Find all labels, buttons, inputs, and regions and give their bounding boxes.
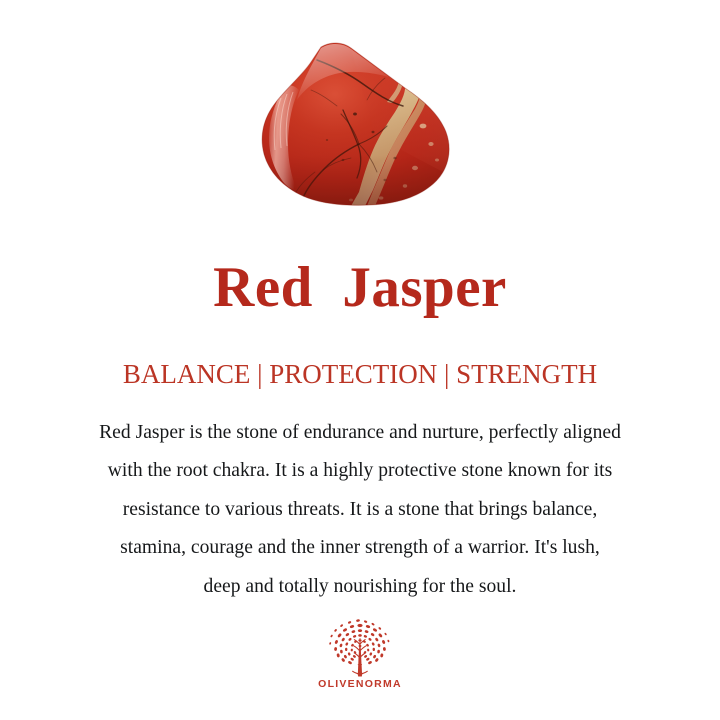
brand-logo[interactable]: OLIVENORMA (0, 618, 720, 690)
hero-image-container (0, 40, 720, 232)
description-line: with the root chakra. It is a highly pro… (8, 452, 712, 490)
product-info-card: Red Jasper BALANCE | PROTECTION | STRENG… (0, 0, 720, 720)
description-line: deep and totally nourishing for the soul… (8, 568, 712, 606)
keyword-tagline: BALANCE | PROTECTION | STRENGTH (0, 360, 720, 390)
page-title: Red Jasper (0, 258, 720, 318)
brand-wordmark: OLIVENORMA (0, 679, 720, 690)
red-jasper-stone-illustration (255, 40, 465, 210)
description-line: resistance to various threats. It is a s… (8, 491, 712, 529)
description-line: Red Jasper is the stone of endurance and… (8, 414, 712, 452)
description-line: stamina, courage and the inner strength … (8, 529, 712, 567)
description-text: Red Jasper is the stone of endurance and… (8, 414, 712, 606)
stone-body (255, 40, 465, 210)
tree-of-life-icon (327, 618, 393, 678)
